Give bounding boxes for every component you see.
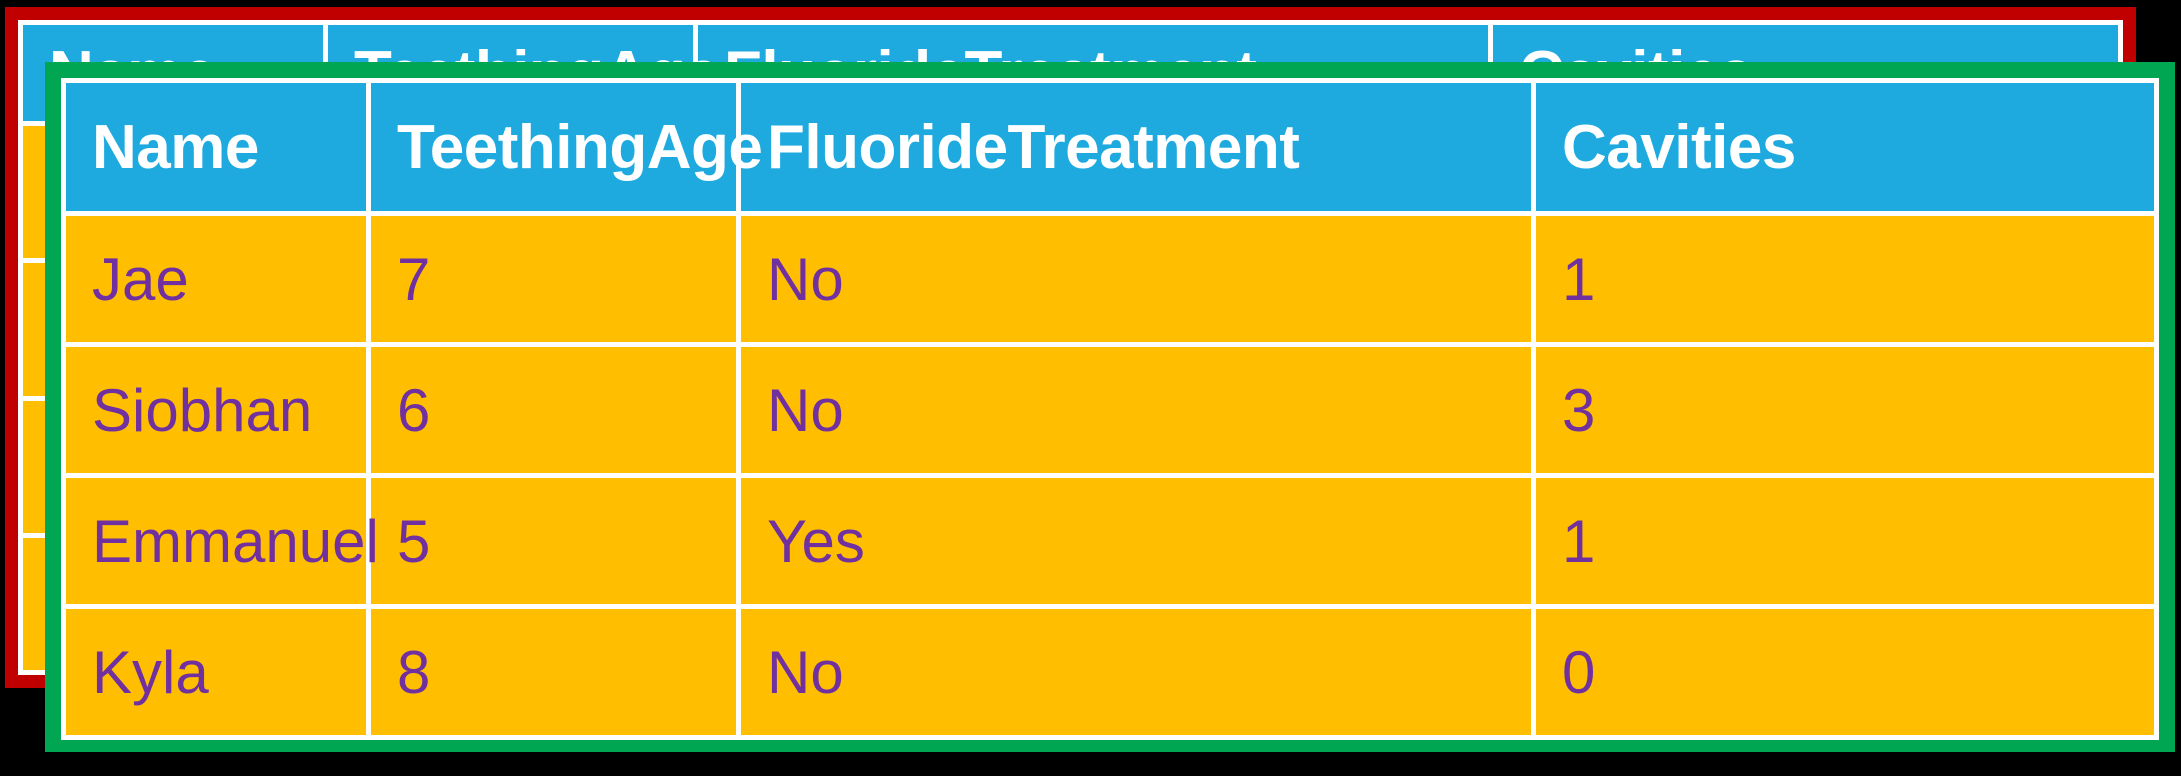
cell-fluoride: No <box>741 216 1531 342</box>
cell-cavities: 0 <box>1536 609 2154 735</box>
table-row: Siobhan 6 No 3 <box>66 347 2154 473</box>
cell-fluoride: Yes <box>741 478 1531 604</box>
column-header-name[interactable]: Name <box>66 83 366 211</box>
table-row: Kyla 8 No 0 <box>66 609 2154 735</box>
cell-age: 6 <box>371 347 736 473</box>
cell-name: Emmanuel <box>66 478 366 604</box>
cell-cavities: 1 <box>1536 216 2154 342</box>
cell-name: Jae <box>66 216 366 342</box>
cell-age: 7 <box>371 216 736 342</box>
cell-fluoride: No <box>741 609 1531 735</box>
column-header-cavities[interactable]: Cavities <box>1536 83 2154 211</box>
cell-fluoride: No <box>741 347 1531 473</box>
column-header-fluoridetreatment[interactable]: FluorideTreatment <box>741 83 1531 211</box>
cell-age: 5 <box>371 478 736 604</box>
cell-name: Kyla <box>66 609 366 735</box>
table-header-row: Name TeethingAge FluorideTreatment Cavit… <box>66 83 2154 211</box>
foreground-data-table: Name TeethingAge FluorideTreatment Cavit… <box>61 78 2159 740</box>
cell-cavities: 1 <box>1536 478 2154 604</box>
cell-name: Siobhan <box>66 347 366 473</box>
screenshot-stage: Name TeethingAge FluorideTreatment Cavit… <box>0 0 2181 776</box>
cell-cavities: 3 <box>1536 347 2154 473</box>
table-row: Jae 7 No 1 <box>66 216 2154 342</box>
cell-age: 8 <box>371 609 736 735</box>
foreground-table-card: Name TeethingAge FluorideTreatment Cavit… <box>45 62 2175 752</box>
table-row: Emmanuel 5 Yes 1 <box>66 478 2154 604</box>
column-header-teethingage[interactable]: TeethingAge <box>371 83 736 211</box>
